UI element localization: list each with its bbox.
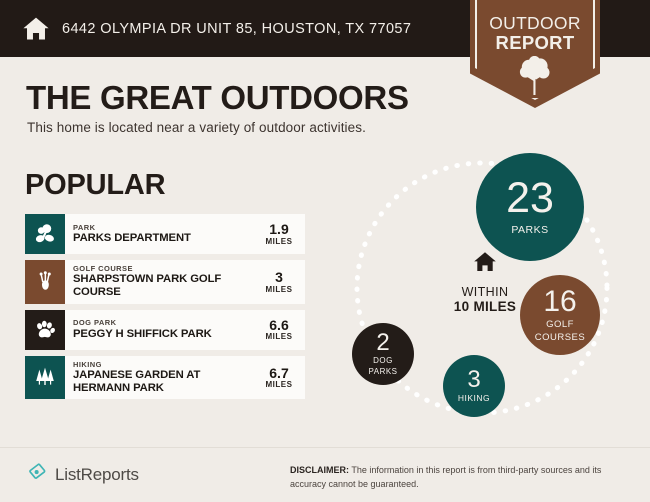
list-item-text: HIKING JAPANESE GARDEN AT HERMANN PARK: [65, 356, 259, 400]
distance-value: 1.9: [269, 222, 288, 237]
list-item[interactable]: DOG PARK PEGGY H SHIFFICK PARK 6.6 MILES: [25, 310, 305, 350]
golf-bag-icon: [25, 260, 65, 304]
parks-label: PARKS: [511, 225, 548, 237]
listreports-logo-icon: [27, 462, 48, 488]
disclaimer-label: DISCLAIMER:: [290, 465, 349, 475]
dog-parks-label-line-2: PARKS: [368, 368, 397, 377]
page-title: THE GREAT OUTDOORS: [26, 79, 409, 117]
dog-parks-label-line-1: DOG: [373, 357, 393, 366]
dog-parks-count: 2: [376, 331, 389, 355]
list-item-category: HIKING: [73, 360, 257, 369]
golf-label-line-1: GOLF: [546, 320, 574, 330]
popular-heading: POPULAR: [25, 169, 165, 202]
list-item[interactable]: HIKING JAPANESE GARDEN AT HERMANN PARK 6…: [25, 356, 305, 400]
listreports-logo-text: ListReports: [55, 465, 139, 485]
list-item-distance: 6.6 MILES: [259, 310, 305, 350]
list-item-distance: 3 MILES: [259, 260, 305, 304]
home-icon: [472, 250, 498, 279]
list-item-distance: 6.7 MILES: [259, 356, 305, 400]
stat-circle-parks[interactable]: 23 PARKS: [476, 153, 584, 261]
home-icon: [16, 15, 56, 43]
footer-divider: [0, 447, 650, 448]
distance-value: 3: [275, 270, 283, 285]
disclaimer: DISCLAIMER: The information in this repo…: [290, 464, 630, 491]
page-subtitle: This home is located near a variety of o…: [27, 120, 366, 135]
list-item-text: DOG PARK PEGGY H SHIFFICK PARK: [65, 310, 259, 350]
distance-value: 6.6: [269, 318, 288, 333]
list-item-category: PARK: [73, 223, 257, 232]
popular-list: PARK PARKS DEPARTMENT 1.9 MILES: [25, 214, 305, 405]
property-address: 6442 OLYMPIA DR UNIT 85, HOUSTON, TX 770…: [62, 21, 411, 37]
badge-line-1: OUTDOOR: [470, 13, 600, 34]
golf-count: 16: [543, 287, 576, 317]
badge-line-2: REPORT: [470, 32, 600, 54]
tree-icon: [470, 56, 600, 96]
nearby-amenities-diagram: WITHIN 10 MILES 23 PARKS 16 GOLF COURSES…: [330, 140, 650, 440]
list-item[interactable]: PARK PARKS DEPARTMENT 1.9 MILES: [25, 214, 305, 254]
stat-circle-golf-courses[interactable]: 16 GOLF COURSES: [520, 275, 600, 355]
center-line-2: 10 MILES: [454, 299, 516, 314]
list-item-category: GOLF COURSE: [73, 264, 257, 273]
parks-count: 23: [506, 177, 554, 220]
stat-circle-dog-parks[interactable]: 2 DOG PARKS: [352, 323, 414, 385]
list-item-text: PARK PARKS DEPARTMENT: [65, 214, 259, 254]
distance-unit: MILES: [266, 285, 293, 294]
hiking-count: 3: [467, 368, 480, 392]
list-item-category: DOG PARK: [73, 318, 257, 327]
distance-value: 6.7: [269, 366, 288, 381]
list-item-text: GOLF COURSE SHARPSTOWN PARK GOLF COURSE: [65, 260, 259, 304]
paw-print-icon: [25, 310, 65, 350]
outdoor-report-infographic: 6442 OLYMPIA DR UNIT 85, HOUSTON, TX 770…: [0, 0, 650, 502]
distance-unit: MILES: [266, 332, 293, 341]
list-item-name: SHARPSTOWN PARK GOLF COURSE: [73, 273, 257, 299]
stat-circle-hiking[interactable]: 3 HIKING: [443, 355, 505, 417]
list-item-name: PEGGY H SHIFFICK PARK: [73, 328, 257, 341]
list-item-name: JAPANESE GARDEN AT HERMANN PARK: [73, 369, 257, 395]
outdoor-report-badge: OUTDOOR REPORT: [470, 0, 600, 108]
distance-unit: MILES: [266, 380, 293, 389]
list-item[interactable]: GOLF COURSE SHARPSTOWN PARK GOLF COURSE …: [25, 260, 305, 304]
listreports-logo[interactable]: ListReports: [27, 462, 139, 488]
list-item-distance: 1.9 MILES: [259, 214, 305, 254]
pine-trees-icon: [25, 356, 65, 400]
hiking-label: HIKING: [458, 394, 490, 403]
distance-unit: MILES: [266, 237, 293, 246]
center-line-1: WITHIN: [462, 285, 509, 299]
park-trees-icon: [25, 214, 65, 254]
list-item-name: PARKS DEPARTMENT: [73, 232, 257, 245]
golf-label-line-2: COURSES: [535, 333, 585, 343]
